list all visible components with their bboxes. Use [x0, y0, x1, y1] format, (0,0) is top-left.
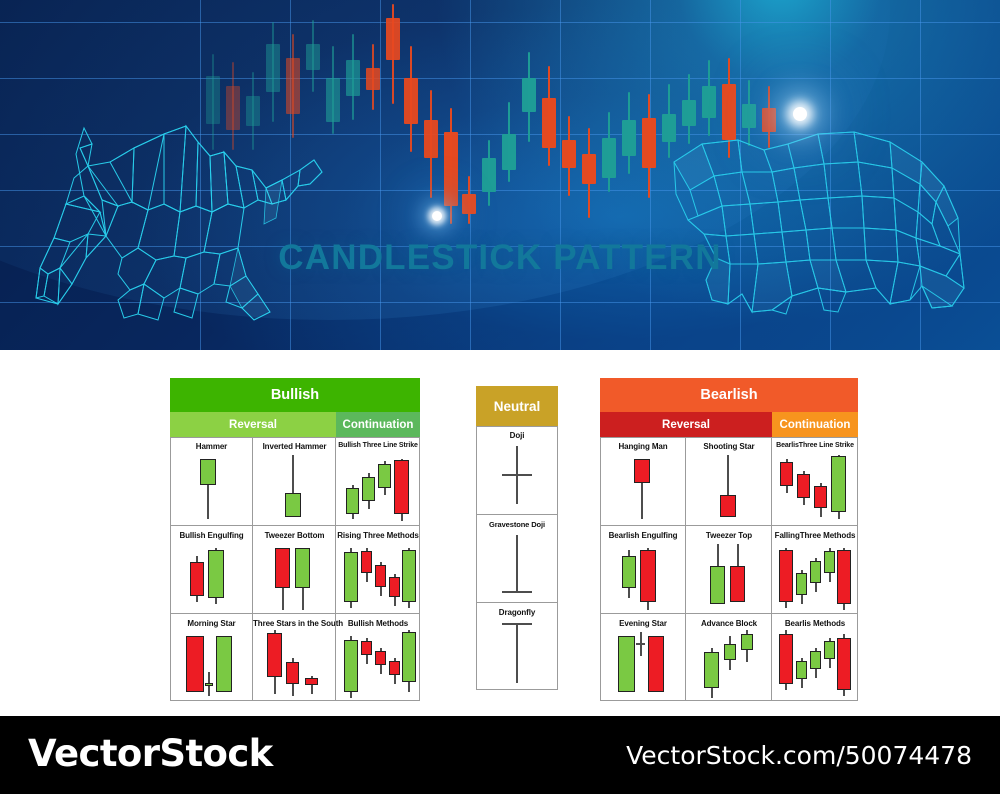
- banner-candle-body: [366, 68, 380, 90]
- bearish-section: Bearlish Reversal Continuation Hanging M…: [600, 378, 858, 701]
- banner-candle-body: [562, 140, 576, 168]
- banner-candle-body: [682, 100, 696, 126]
- bullish-grid-border: [170, 437, 420, 701]
- bearish-header: Bearlish: [600, 378, 858, 412]
- neutral-header: Neutral: [476, 386, 558, 426]
- bear-wireframe-icon: [668, 128, 990, 320]
- banner-candle-body: [444, 132, 458, 206]
- banner-candle-body: [502, 134, 516, 170]
- bull-wireframe-icon: [14, 108, 344, 323]
- banner-glow-dot-left: [432, 211, 442, 221]
- banner-candle-body: [542, 98, 556, 148]
- banner-candle-body: [306, 44, 320, 70]
- banner-candle-body: [522, 78, 536, 112]
- banner-candle-body: [286, 58, 300, 114]
- banner-candle-body: [582, 154, 596, 184]
- banner-candle-body: [404, 78, 418, 124]
- banner-candle-body: [386, 18, 400, 60]
- banner-candle-body: [642, 118, 656, 168]
- banner-candle-body: [622, 120, 636, 156]
- bullish-subheader-continuation: Continuation: [336, 412, 420, 437]
- banner-candle-body: [424, 120, 438, 158]
- poster-root: CANDLESTICK PATTERN Bullish Reversal Con…: [0, 0, 1000, 794]
- neutral-grid-border: [476, 426, 558, 690]
- bearish-subheader-continuation: Continuation: [772, 412, 858, 437]
- banner-candle-body: [482, 158, 496, 192]
- bullish-header: Bullish: [170, 378, 420, 412]
- banner-candle-body: [346, 60, 360, 96]
- bearish-subheader-reversal: Reversal: [600, 412, 772, 437]
- bullish-subheader-reversal: Reversal: [170, 412, 336, 437]
- vectorstock-url: VectorStock.com/50074478: [626, 741, 972, 770]
- banner-candle-body: [742, 104, 756, 128]
- banner-glow-dot-right: [793, 107, 807, 121]
- bearish-grid-border: [600, 437, 858, 701]
- vectorstock-logo: VectorStock: [28, 732, 273, 775]
- bullish-section: Bullish Reversal Continuation Hammer Bul…: [170, 378, 420, 701]
- hero-banner: CANDLESTICK PATTERN: [0, 0, 1000, 350]
- banner-candle-body: [602, 138, 616, 178]
- footer-bar: VectorStock VectorStock.com/50074478: [0, 716, 1000, 794]
- banner-candle-body: [266, 44, 280, 92]
- banner-candle-body: [702, 86, 716, 118]
- neutral-section: Neutral Doji Gravestone Doji Dragonfly: [476, 386, 558, 690]
- page-title: CANDLESTICK PATTERN: [0, 238, 1000, 278]
- banner-candle-body: [462, 194, 476, 214]
